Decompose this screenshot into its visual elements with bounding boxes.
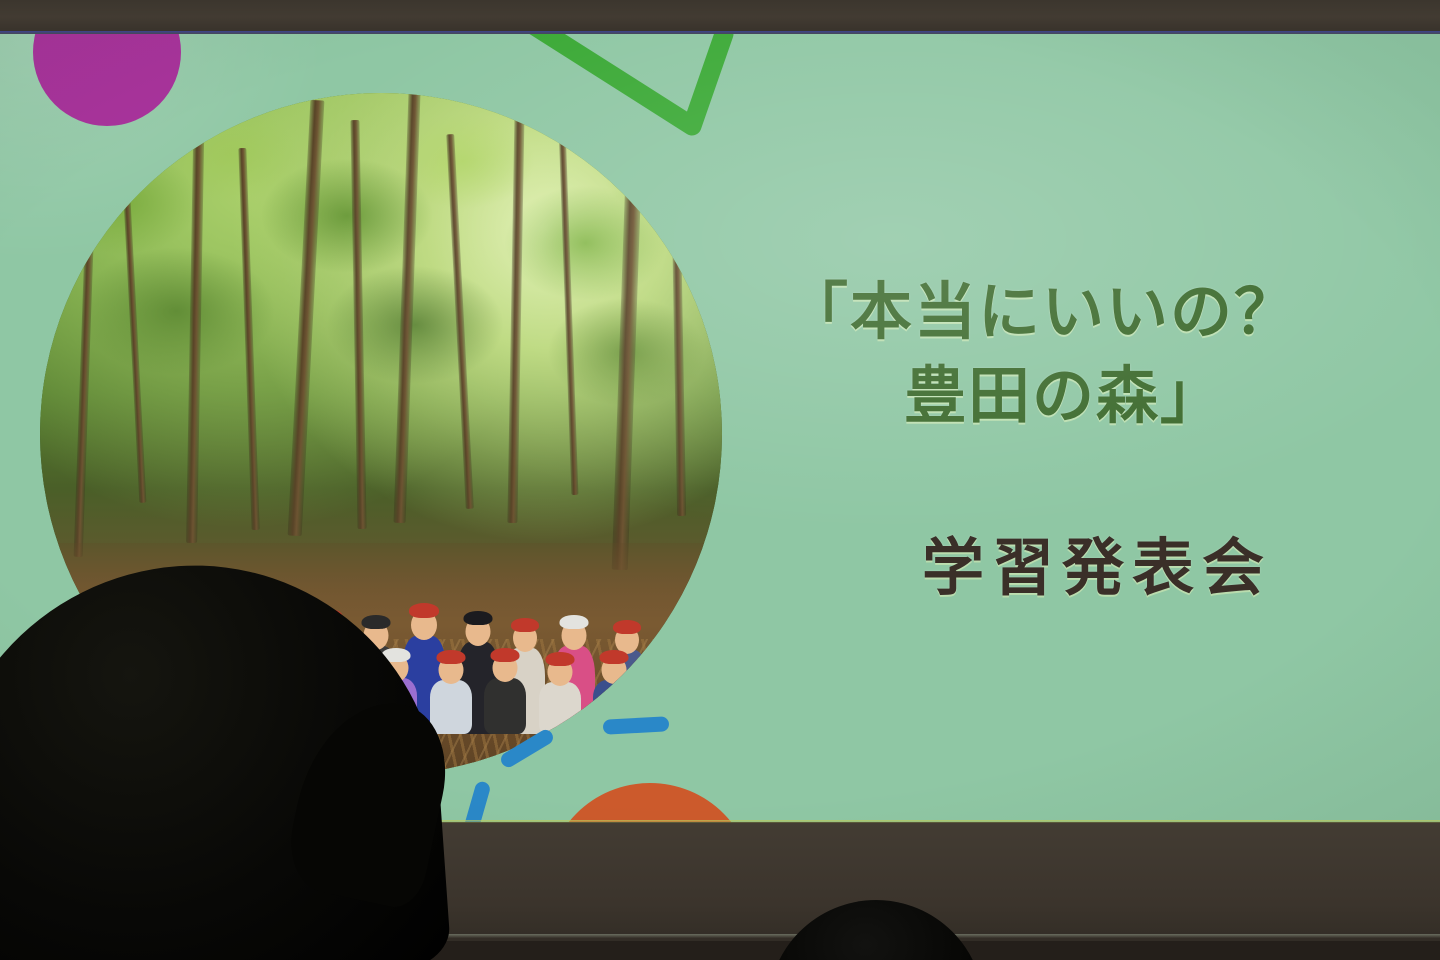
blue-dash-decoration-3 [461, 780, 491, 822]
presentation-room-photo: 「本当にいいの？ 豊田の森」 学習発表会 [0, 0, 1440, 960]
slide-title-line-2: 豊田の森」 [904, 354, 1440, 438]
slide-title-line-1: 「本当にいいの？ [786, 270, 1440, 354]
screen-top-edge [0, 31, 1440, 34]
orange-semicircle-decoration [546, 783, 754, 822]
wall-above-screen [0, 0, 1440, 34]
slide-title: 「本当にいいの？ 豊田の森」 [786, 270, 1440, 437]
slide-subtitle: 学習発表会 [922, 531, 1272, 605]
